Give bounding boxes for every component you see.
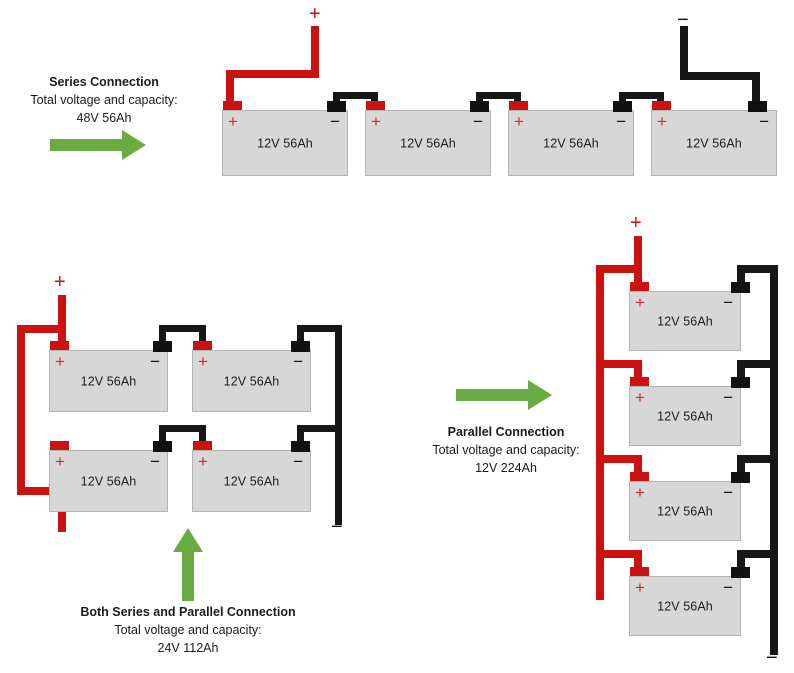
parallel-battery-1-positive-sign: + — [635, 294, 645, 311]
parallel-battery-2-label: 12V 56Ah — [630, 410, 740, 424]
series-parallel-negative-bus-vertical — [335, 325, 342, 525]
parallel-battery-4-label: 12V 56Ah — [630, 600, 740, 614]
series-battery-2: + − 12V 56Ah — [365, 110, 491, 176]
series-parallel-battery-1: + − 12V 56Ah — [49, 350, 168, 412]
series-parallel-battery-3-negative-post — [153, 441, 172, 452]
series-battery-3-negative-sign: − — [616, 113, 626, 130]
parallel-battery-4: + − 12V 56Ah — [629, 576, 741, 636]
parallel-battery-1-negative-post — [731, 282, 750, 293]
series-battery-4-negative-post — [748, 101, 767, 112]
series-parallel-battery-2-negative-sign: − — [293, 353, 303, 370]
series-parallel-output-positive-mark: + — [54, 272, 66, 292]
series-parallel-battery-2: + − 12V 56Ah — [192, 350, 311, 412]
series-parallel-caption-line2: 24V 112Ah — [28, 639, 348, 657]
series-parallel-battery-3: + − 12V 56Ah — [49, 450, 168, 512]
series-output-positive-mark: + — [309, 4, 321, 24]
series-battery-2-negative-post — [470, 101, 489, 112]
parallel-caption-title: Parallel Connection — [420, 425, 592, 439]
series-battery-1: + − 12V 56Ah — [222, 110, 348, 176]
parallel-battery-3-label: 12V 56Ah — [630, 505, 740, 519]
series-positive-wire-vertical-right — [311, 26, 319, 76]
parallel-battery-1-negative-sign: − — [723, 294, 733, 311]
series-parallel-battery-1-positive-sign: + — [55, 353, 65, 370]
series-battery-4-label: 12V 56Ah — [652, 137, 776, 151]
series-parallel-battery-1-negative-post — [153, 341, 172, 352]
series-battery-3-label: 12V 56Ah — [509, 137, 633, 151]
series-negative-wire-vertical-left — [680, 26, 688, 76]
series-parallel-positive-bus-vertical — [17, 325, 25, 495]
series-parallel-caption-title: Both Series and Parallel Connection — [28, 605, 348, 619]
series-parallel-output-negative-mark: − — [331, 517, 343, 537]
parallel-battery-2: + − 12V 56Ah — [629, 386, 741, 446]
series-parallel-caption: Both Series and Parallel Connection Tota… — [28, 605, 348, 657]
series-battery-2-label: 12V 56Ah — [366, 137, 490, 151]
series-caption: Series Connection Total voltage and capa… — [0, 75, 208, 127]
series-parallel-battery-4: + − 12V 56Ah — [192, 450, 311, 512]
series-caption-line1: Total voltage and capacity: — [0, 91, 208, 109]
series-parallel-caption-line1: Total voltage and capacity: — [28, 621, 348, 639]
series-parallel-battery-4-negative-post — [291, 441, 310, 452]
parallel-caption: Parallel Connection Total voltage and ca… — [420, 425, 592, 477]
parallel-caption-line2: 12V 224Ah — [420, 459, 592, 477]
series-battery-3-positive-sign: + — [514, 113, 524, 130]
series-parallel-battery-3-positive-sign: + — [55, 453, 65, 470]
series-parallel-battery-1-negative-sign: − — [150, 353, 160, 370]
parallel-positive-stub-1 — [596, 265, 642, 273]
parallel-battery-3-negative-sign: − — [723, 484, 733, 501]
series-battery-1-negative-post — [327, 101, 346, 112]
parallel-battery-2-negative-post — [731, 377, 750, 388]
series-parallel-battery-1-label: 12V 56Ah — [50, 375, 167, 389]
parallel-caption-line1: Total voltage and capacity: — [420, 441, 592, 459]
series-battery-2-negative-sign: − — [473, 113, 483, 130]
parallel-battery-3-negative-post — [731, 472, 750, 483]
parallel-battery-2-negative-sign: − — [723, 389, 733, 406]
series-output-negative-mark: − — [677, 10, 689, 30]
series-parallel-battery-3-negative-sign: − — [150, 453, 160, 470]
battery-connection-diagram: Series Connection Total voltage and capa… — [0, 0, 794, 673]
series-parallel-battery-4-label: 12V 56Ah — [193, 475, 310, 489]
series-parallel-battery-2-label: 12V 56Ah — [193, 375, 310, 389]
parallel-output-positive-mark: + — [630, 213, 642, 233]
series-parallel-battery-2-positive-sign: + — [198, 353, 208, 370]
series-parallel-battery-4-positive-sign: + — [198, 453, 208, 470]
series-negative-wire-horizontal — [680, 72, 760, 80]
series-battery-1-positive-sign: + — [228, 113, 238, 130]
series-parallel-battery-2-negative-post — [291, 341, 310, 352]
series-battery-4-negative-sign: − — [759, 113, 769, 130]
series-caption-line2: 48V 56Ah — [0, 109, 208, 127]
parallel-battery-4-negative-post — [731, 567, 750, 578]
parallel-output-negative-mark: − — [766, 648, 778, 668]
series-battery-1-label: 12V 56Ah — [223, 137, 347, 151]
parallel-battery-4-positive-sign: + — [635, 579, 645, 596]
parallel-battery-3: + − 12V 56Ah — [629, 481, 741, 541]
series-parallel-battery-4-negative-sign: − — [293, 453, 303, 470]
series-battery-4-positive-sign: + — [657, 113, 667, 130]
parallel-battery-1: + − 12V 56Ah — [629, 291, 741, 351]
series-battery-4: + − 12V 56Ah — [651, 110, 777, 176]
series-battery-2-positive-sign: + — [371, 113, 381, 130]
series-battery-1-negative-sign: − — [330, 113, 340, 130]
series-battery-3: + − 12V 56Ah — [508, 110, 634, 176]
series-battery-3-negative-post — [613, 101, 632, 112]
parallel-battery-2-positive-sign: + — [635, 389, 645, 406]
series-parallel-battery-3-label: 12V 56Ah — [50, 475, 167, 489]
parallel-battery-3-positive-sign: + — [635, 484, 645, 501]
series-caption-title: Series Connection — [0, 75, 208, 89]
series-positive-wire-horizontal — [226, 70, 319, 78]
parallel-battery-1-label: 12V 56Ah — [630, 315, 740, 329]
parallel-battery-4-negative-sign: − — [723, 579, 733, 596]
